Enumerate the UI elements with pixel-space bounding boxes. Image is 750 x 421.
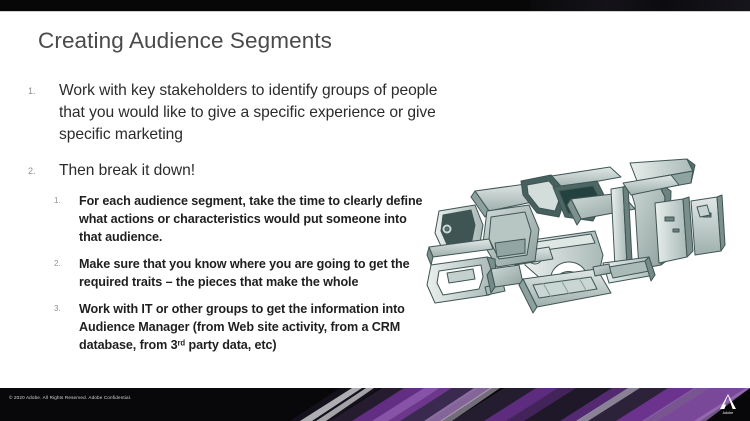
list-item-text: Make sure that you know where you are go…	[79, 257, 410, 289]
footer-decorative-artwork	[0, 388, 750, 421]
top-bar-sheen	[530, 0, 750, 11]
list-marker: 1.	[28, 86, 36, 96]
list-item: 1. For each audience segment, take the t…	[52, 192, 427, 246]
list-item-text: Work with key stakeholders to identify g…	[59, 82, 437, 143]
list-marker: 3.	[54, 304, 61, 313]
secondary-bullet-list: 1. For each audience segment, take the t…	[52, 192, 427, 363]
list-marker: 2.	[28, 166, 36, 176]
list-item-text-rich: Work with IT or other groups to get the …	[79, 302, 405, 352]
text-after-superscript: party data, etc)	[185, 338, 276, 352]
list-marker: 1.	[54, 196, 61, 205]
slide-canvas: Creating Audience Segments 1. Work with …	[0, 12, 750, 388]
presentation-slide: Creating Audience Segments 1. Work with …	[0, 0, 750, 421]
slide-footer: © 2020 Adobe. All Rights Reserved. Adobe…	[0, 388, 750, 421]
adobe-wordmark: Adobe	[716, 411, 740, 415]
list-item-text: For each audience segment, take the time…	[79, 194, 422, 244]
list-item: 2. Then break it down!	[26, 160, 466, 182]
list-item: 2. Make sure that you know where you are…	[52, 255, 427, 291]
list-item: 1. Work with key stakeholders to identif…	[26, 80, 466, 146]
copyright-text: © 2020 Adobe. All Rights Reserved. Adobe…	[9, 395, 131, 400]
exploded-car-body-parts-illustration	[425, 147, 735, 347]
list-item-text: Then break it down!	[59, 162, 195, 179]
ordinal-superscript: rd	[178, 339, 186, 348]
adobe-a-mark-icon	[716, 393, 740, 410]
primary-bullet-list-second: 2. Then break it down!	[26, 160, 466, 192]
primary-bullet-list: 1. Work with key stakeholders to identif…	[26, 80, 466, 156]
slide-title: Creating Audience Segments	[38, 28, 332, 54]
list-item: 3. Work with IT or other groups to get t…	[52, 300, 427, 354]
list-marker: 2.	[54, 259, 61, 268]
top-letterbox-bar	[0, 0, 750, 11]
adobe-logo: Adobe	[716, 393, 740, 417]
